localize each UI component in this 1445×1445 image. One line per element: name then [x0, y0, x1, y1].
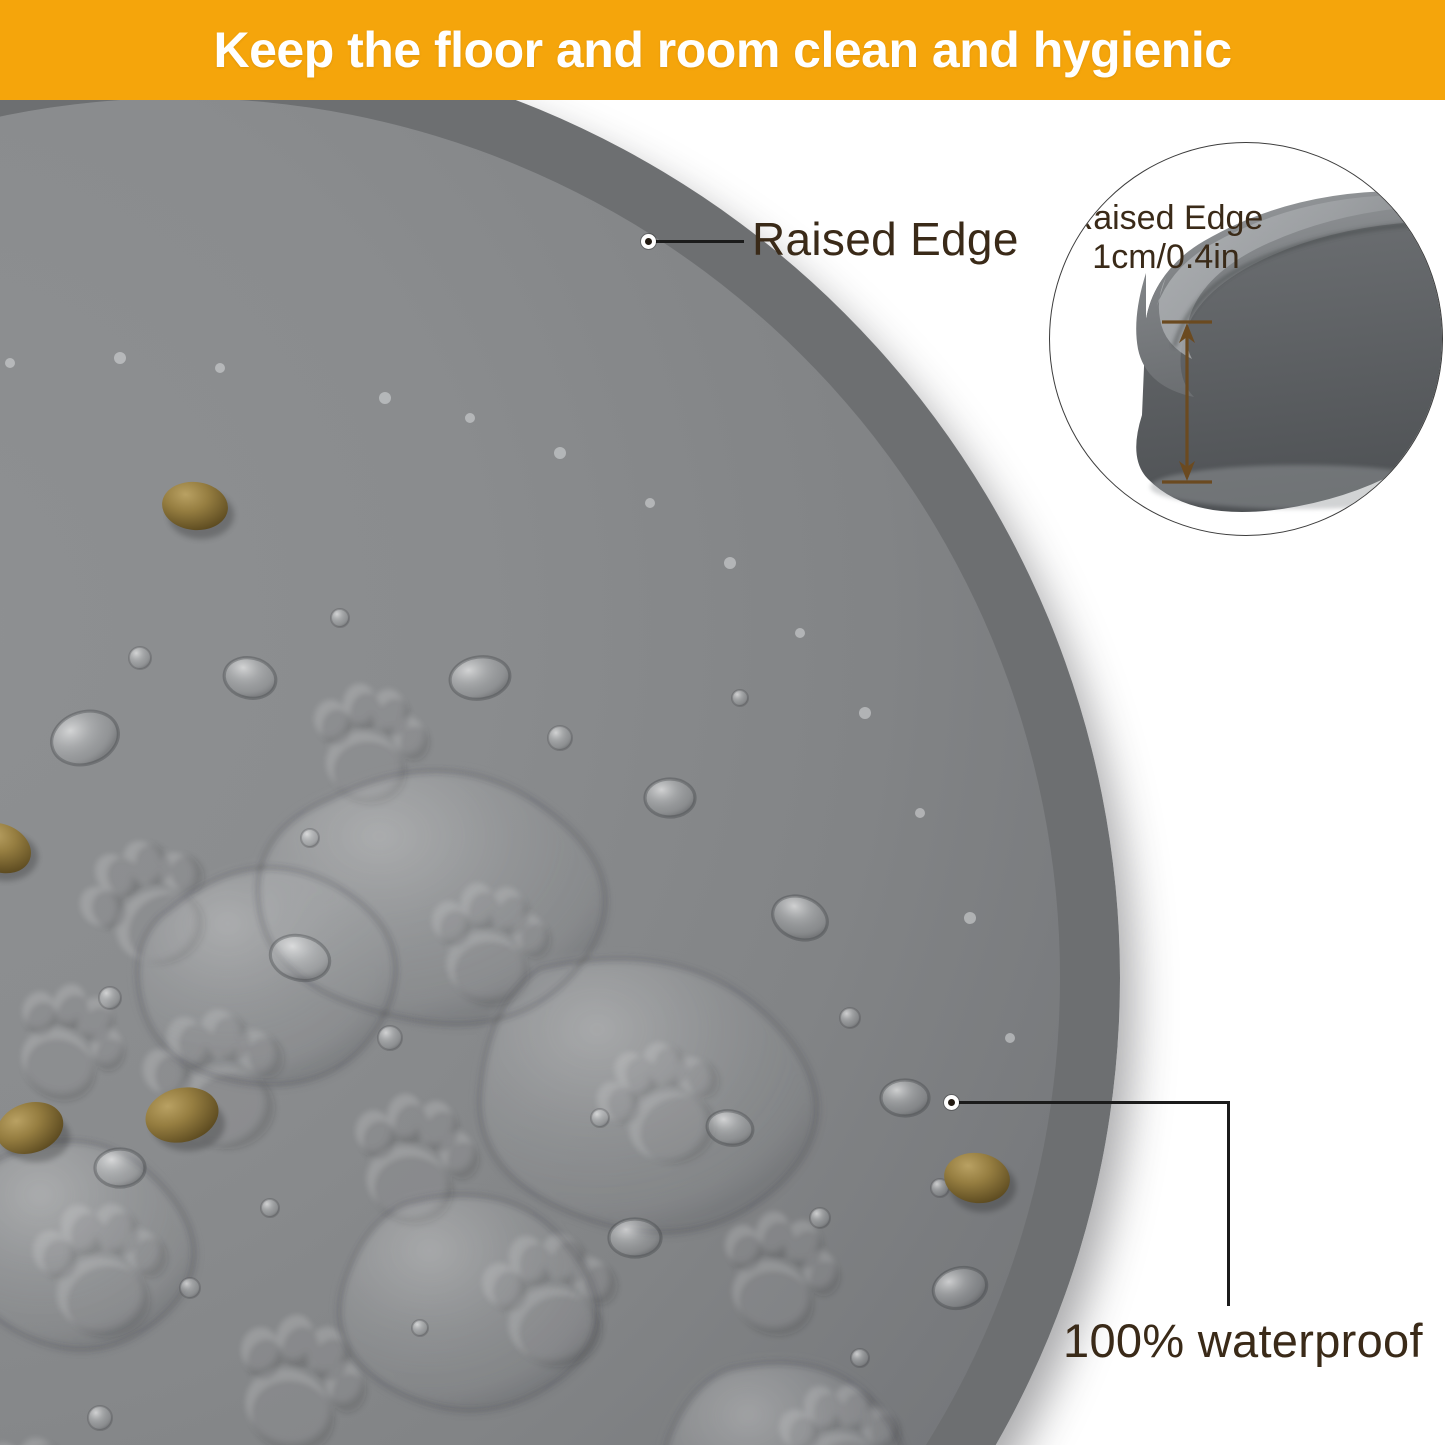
- waterproof-leader-dot: [944, 1095, 959, 1110]
- callout-label-raised-edge: Raised Edge: [752, 212, 1019, 266]
- mat-surface-detail: [0, 100, 1120, 1445]
- raised-edge-leader-dot: [641, 234, 656, 249]
- feeding-mat: [0, 100, 1120, 1445]
- raised-edge-detail-inset: Raised Edge 1cm/0.4in: [1049, 142, 1443, 536]
- inset-caption: Raised Edge 1cm/0.4in: [1050, 199, 1282, 278]
- callout-label-waterproof: 100% waterproof: [1063, 1313, 1423, 1368]
- waterproof-leader-line-vertical: [1227, 1101, 1230, 1306]
- waterproof-leader-line-horizontal: [957, 1101, 1230, 1104]
- product-infographic: Keep the floor and room clean and hygien…: [0, 0, 1445, 1445]
- raised-edge-leader-line: [654, 240, 744, 243]
- dimension-arrow: [1154, 317, 1220, 487]
- inset-caption-line1: Raised Edge: [1069, 199, 1264, 237]
- banner-headline: Keep the floor and room clean and hygien…: [213, 25, 1231, 75]
- header-banner: Keep the floor and room clean and hygien…: [0, 0, 1445, 100]
- inset-caption-line2: 1cm/0.4in: [1050, 238, 1282, 277]
